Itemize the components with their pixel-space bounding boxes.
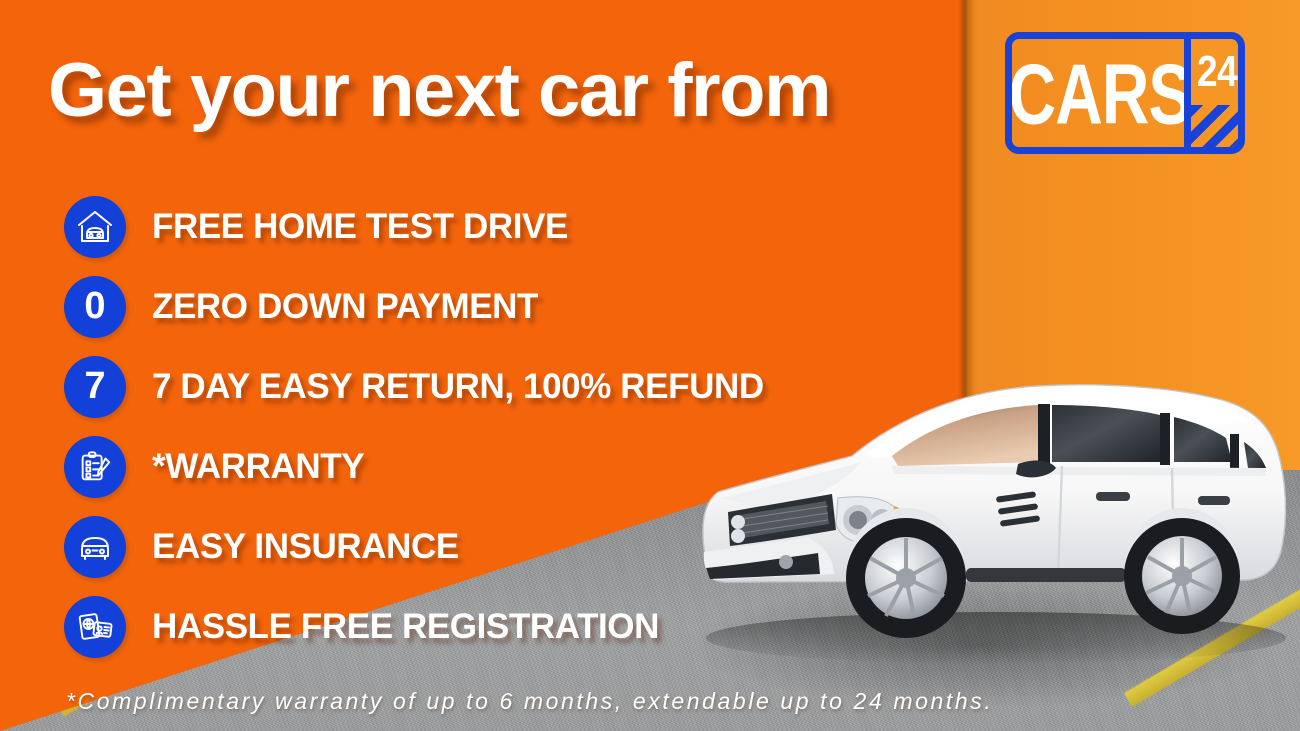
cars24-logo[interactable]: CARS 24 [1005,32,1245,154]
logo-24-text: 24 [1197,50,1237,94]
disclaimer-text: *Complimentary warranty of up to 6 month… [66,688,993,715]
logo-wordmark: CARS [1029,37,1172,152]
car-front-icon [75,527,115,567]
feature-item-zero-down-payment[interactable]: 0 ZERO DOWN PAYMENT [64,276,764,338]
zero-digit-icon: 0 [84,287,105,325]
logo-diagonal-stripes [1191,105,1240,149]
feature-label: EASY INSURANCE [152,527,459,567]
logo-divider [1184,37,1191,149]
home-garage-car-icon [75,207,115,247]
feature-item-home-test-drive[interactable]: FREE HOME TEST DRIVE [64,196,764,258]
feature-label: ZERO DOWN PAYMENT [152,287,538,327]
documents-id-icon [75,607,115,647]
seven-digit-icon: 7 [84,367,105,405]
badge-circle: 0 [64,276,126,338]
feature-list: FREE HOME TEST DRIVE 0 ZERO DOWN PAYMENT… [64,196,764,676]
badge-circle [64,196,126,258]
badge-circle [64,516,126,578]
clipboard-pencil-icon [76,448,114,486]
feature-label: HASSLE FREE REGISTRATION [152,607,659,647]
feature-label: FREE HOME TEST DRIVE [152,207,568,247]
feature-label: 7 DAY EASY RETURN, 100% REFUND [152,367,764,407]
feature-item-hassle-free-registration[interactable]: HASSLE FREE REGISTRATION [64,596,764,658]
feature-item-easy-return[interactable]: 7 7 DAY EASY RETURN, 100% REFUND [64,356,764,418]
cars24-promo-banner: Get your next car from CARS 24 FREE HOME… [0,0,1300,731]
page-title: Get your next car from [48,52,958,130]
badge-circle [64,596,126,658]
feature-item-warranty[interactable]: *WARRANTY [64,436,764,498]
feature-item-easy-insurance[interactable]: EASY INSURANCE [64,516,764,578]
badge-circle [64,436,126,498]
badge-circle: 7 [64,356,126,418]
feature-label: *WARRANTY [152,447,364,487]
